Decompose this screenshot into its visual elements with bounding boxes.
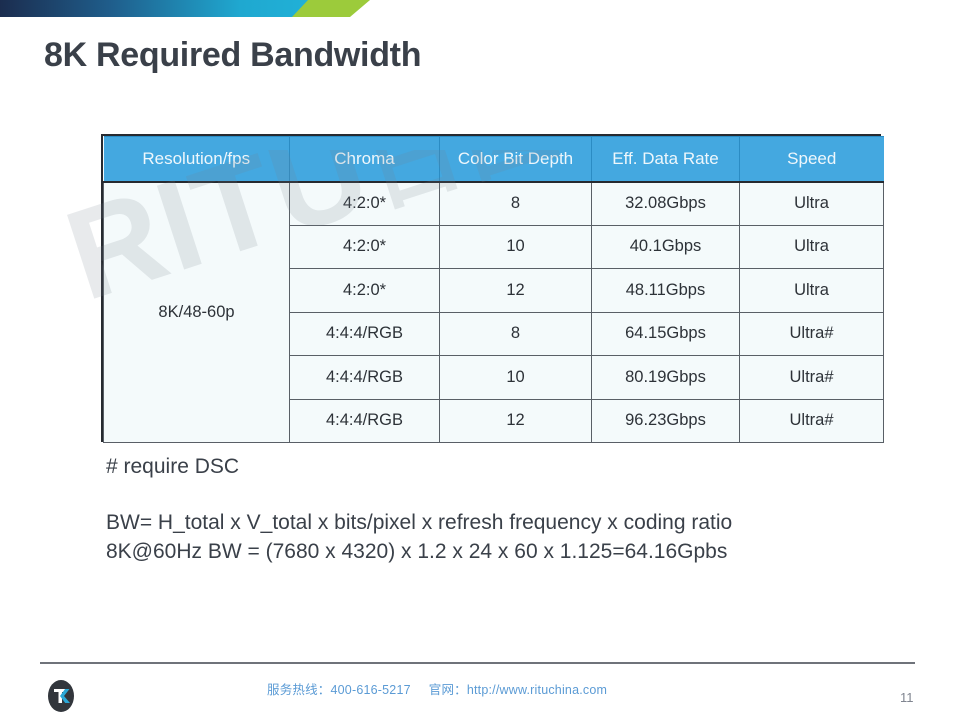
banner-blue-shape [0,0,320,17]
data-rate-cell: 40.1Gbps [592,225,740,269]
page-title: 8K Required Bandwidth [44,36,421,75]
data-rate-cell: 32.08Gbps [592,182,740,226]
chroma-cell: 4:4:4/RGB [290,399,440,443]
data-rate-cell: 96.23Gbps [592,399,740,443]
bit-depth-cell: 10 [440,225,592,269]
speed-cell: Ultra [740,182,884,226]
footer-hotline: 服务热线：400-616-5217 [267,683,411,697]
data-rate-cell: 48.11Gbps [592,269,740,313]
speed-cell: Ultra# [740,399,884,443]
formula-line-1: BW= H_total x V_total x bits/pixel x ref… [106,509,732,538]
footer-website[interactable]: 官网：http://www.rituchina.com [429,683,607,697]
speed-cell: Ultra# [740,356,884,400]
column-header-speed: Speed [740,137,884,182]
column-header-resolution: Resolution/fps [104,137,290,182]
column-header-bit-depth: Color Bit Depth [440,137,592,182]
page-number: 11 [900,690,914,705]
chroma-cell: 4:2:0* [290,182,440,226]
bandwidth-table: Resolution/fps Chroma Color Bit Depth Ef… [103,136,884,443]
top-banner-decoration [0,0,370,17]
bit-depth-cell: 8 [440,182,592,226]
table-row: 8K/48-60p 4:2:0* 8 32.08Gbps Ultra [104,182,884,226]
notes-block: # require DSC BW= H_total x V_total x bi… [106,455,732,567]
dsc-note: # require DSC [106,455,732,479]
speed-cell: Ultra# [740,312,884,356]
speed-cell: Ultra [740,269,884,313]
bit-depth-cell: 12 [440,269,592,313]
slide-canvas: 8K Required Bandwidth RITU日图科技 Resolutio… [0,0,960,720]
column-header-data-rate: Eff. Data Rate [592,137,740,182]
chroma-cell: 4:4:4/RGB [290,312,440,356]
table-header-row: Resolution/fps Chroma Color Bit Depth Ef… [104,137,884,182]
chroma-cell: 4:2:0* [290,269,440,313]
chroma-cell: 4:2:0* [290,225,440,269]
chroma-cell: 4:4:4/RGB [290,356,440,400]
table-body: 8K/48-60p 4:2:0* 8 32.08Gbps Ultra 4:2:0… [104,182,884,443]
data-rate-cell: 80.19Gbps [592,356,740,400]
company-logo [46,678,76,714]
speed-cell: Ultra [740,225,884,269]
footer-divider [40,662,915,664]
resolution-cell: 8K/48-60p [104,182,290,443]
data-rate-cell: 64.15Gbps [592,312,740,356]
formula-line-2: 8K@60Hz BW = (7680 x 4320) x 1.2 x 24 x … [106,538,732,567]
footer-contact: 服务热线：400-616-5217官网：http://www.rituchina… [267,679,607,698]
bit-depth-cell: 12 [440,399,592,443]
bit-depth-cell: 10 [440,356,592,400]
bit-depth-cell: 8 [440,312,592,356]
formula-block: BW= H_total x V_total x bits/pixel x ref… [106,509,732,567]
column-header-chroma: Chroma [290,137,440,182]
bandwidth-table-container: Resolution/fps Chroma Color Bit Depth Ef… [101,134,881,442]
